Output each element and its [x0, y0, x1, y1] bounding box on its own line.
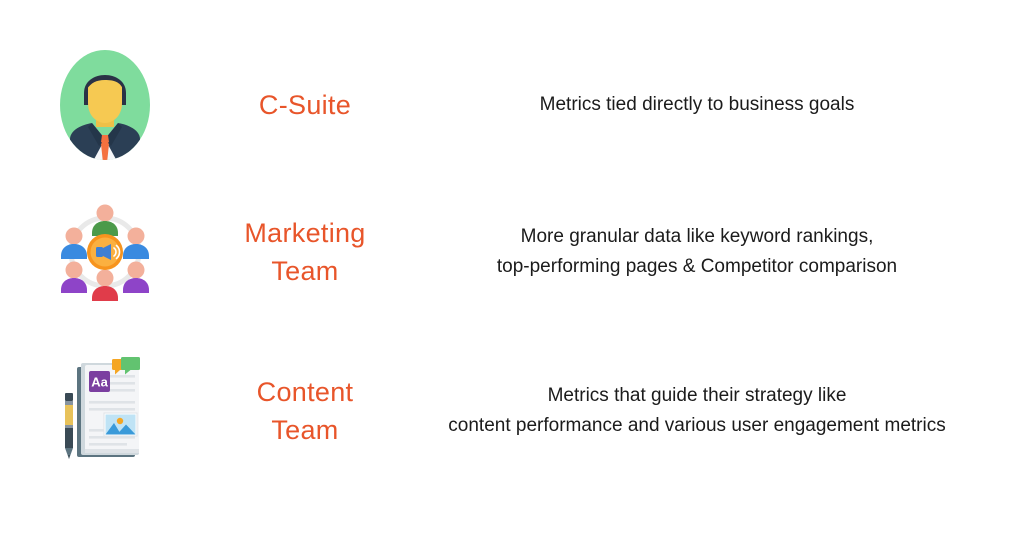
infographic-canvas: C-Suite Metrics tied directly to busines… — [0, 0, 1024, 536]
description-marketing-team: More granular data like keyword rankings… — [400, 222, 1024, 282]
document-pen-content-icon: Aa — [55, 355, 155, 467]
label-content-team: Content Team — [210, 373, 400, 449]
description-content-team: Metrics that guide their strategy like c… — [400, 381, 1024, 441]
team-network-megaphone-icon — [59, 200, 151, 304]
row-marketing-team: Marketing Team More granular data like k… — [0, 196, 1024, 308]
label-c-suite: C-Suite — [210, 86, 400, 124]
icon-cell-c-suite — [0, 47, 210, 163]
icon-cell-marketing-team — [0, 200, 210, 304]
description-c-suite: Metrics tied directly to business goals — [400, 90, 1024, 120]
label-marketing-team: Marketing Team — [210, 214, 400, 290]
businessman-avatar-icon — [58, 47, 152, 163]
row-c-suite: C-Suite Metrics tied directly to busines… — [0, 46, 1024, 164]
icon-cell-content-team: Aa — [0, 355, 210, 467]
row-content-team: Aa — [0, 352, 1024, 470]
aa-badge-text: Aa — [91, 375, 108, 390]
